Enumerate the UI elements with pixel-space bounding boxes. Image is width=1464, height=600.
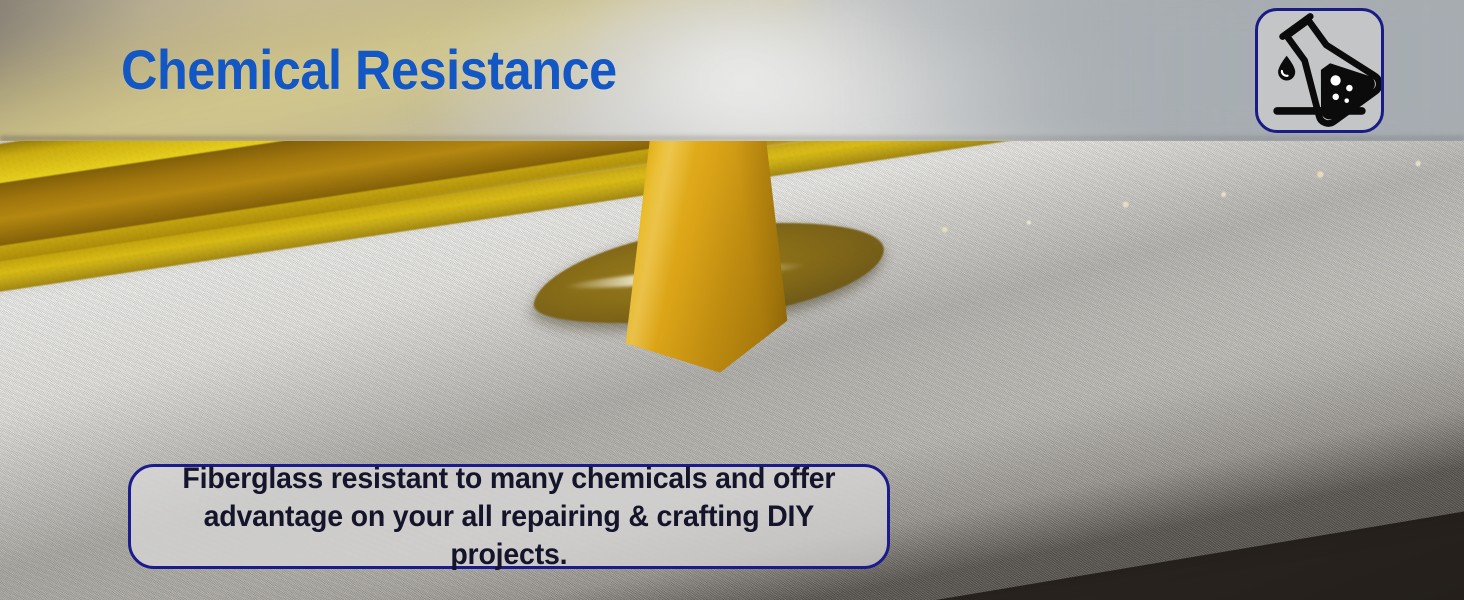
header-bottom-edge [0, 136, 1464, 141]
caption-box: Fiberglass resistant to many chemicals a… [128, 464, 890, 569]
surface-line [1273, 107, 1365, 115]
caption-text: Fiberglass resistant to many chemicals a… [164, 460, 853, 574]
chemical-flask-badge [1255, 8, 1384, 133]
page-title: Chemical Resistance [121, 41, 617, 99]
chemical-flask-icon [1258, 11, 1381, 130]
chemical-resistance-banner: Chemical Resistance Fiberglass resistan [0, 0, 1464, 600]
flask-rim [1283, 16, 1311, 36]
